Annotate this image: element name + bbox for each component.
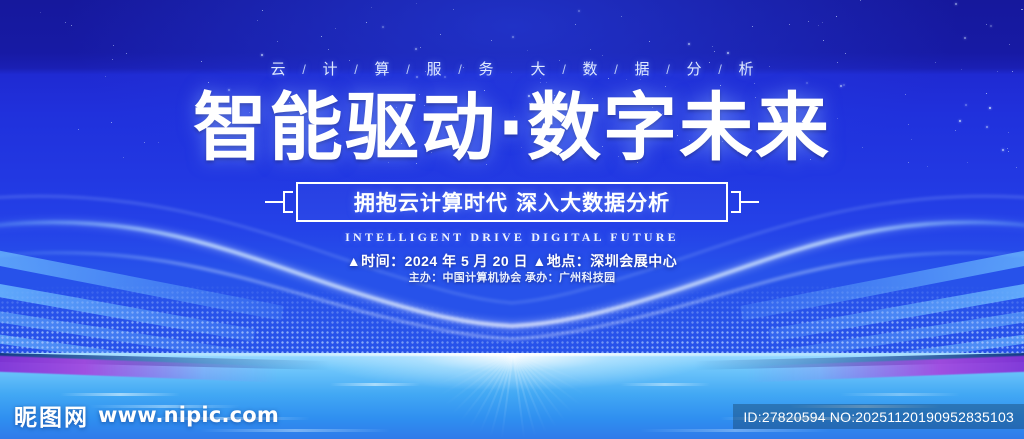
subtitle-block: 拥抱云计算时代 深入大数据分析	[0, 182, 1024, 226]
main-title: 智能驱动·数字未来	[0, 88, 1024, 168]
eyebrow-char: 服	[419, 58, 449, 79]
eyebrow-char: 算	[367, 58, 397, 79]
eyebrow-char: 云	[263, 58, 293, 79]
organizer-line: 主办：中国计算机协会 承办：广州科技园	[0, 269, 1024, 285]
eyebrow-char: 大	[523, 58, 553, 79]
eyebrow-separator: /	[293, 62, 315, 77]
eyebrow-separator: /	[553, 62, 575, 77]
eyebrow-char: 分	[679, 58, 709, 79]
subtitle-bracket-line-left	[265, 201, 283, 203]
banner-content: 云/计/算/服/务大/数/据/分/析 智能驱动·数字未来 拥抱云计算时代 深入大…	[0, 0, 1024, 439]
eyebrow-char: 数	[575, 58, 605, 79]
eyebrow-separator: /	[397, 62, 419, 77]
eyebrow-separator: /	[605, 62, 627, 77]
subtitle-text: 拥抱云计算时代 深入大数据分析	[354, 187, 670, 217]
eyebrow-char: 析	[731, 58, 761, 79]
subtitle-box: 拥抱云计算时代 深入大数据分析	[296, 182, 728, 222]
watermark-site-name: 昵图网	[14, 398, 89, 432]
eyebrow-separator: /	[657, 62, 679, 77]
subtitle-bracket-right	[731, 191, 741, 213]
watermark-url: www.nipic.com	[98, 403, 279, 427]
eyebrow-separator: /	[449, 62, 471, 77]
eyebrow-char: 据	[627, 58, 657, 79]
event-info-line: ▲时间：2024 年 5 月 20 日 ▲地点：深圳会展中心	[0, 251, 1024, 271]
subtitle-bracket-left	[283, 191, 293, 213]
english-tagline: INTELLIGENT DRIVE DIGITAL FUTURE	[0, 230, 1024, 245]
eyebrow-char: 务	[471, 58, 501, 79]
eyebrow-char: 计	[315, 58, 345, 79]
eyebrow-separator: /	[345, 62, 367, 77]
eyebrow-separator: /	[709, 62, 731, 77]
event-banner: 云/计/算/服/务大/数/据/分/析 智能驱动·数字未来 拥抱云计算时代 深入大…	[0, 0, 1024, 439]
subtitle-bracket-line-right	[741, 201, 759, 203]
watermark: 昵图网 www.nipic.com	[14, 398, 279, 432]
eyebrow-keywords: 云/计/算/服/务大/数/据/分/析	[0, 58, 1024, 79]
image-id-badge: ID:27820594 NO:20251120190952835103	[733, 404, 1024, 429]
